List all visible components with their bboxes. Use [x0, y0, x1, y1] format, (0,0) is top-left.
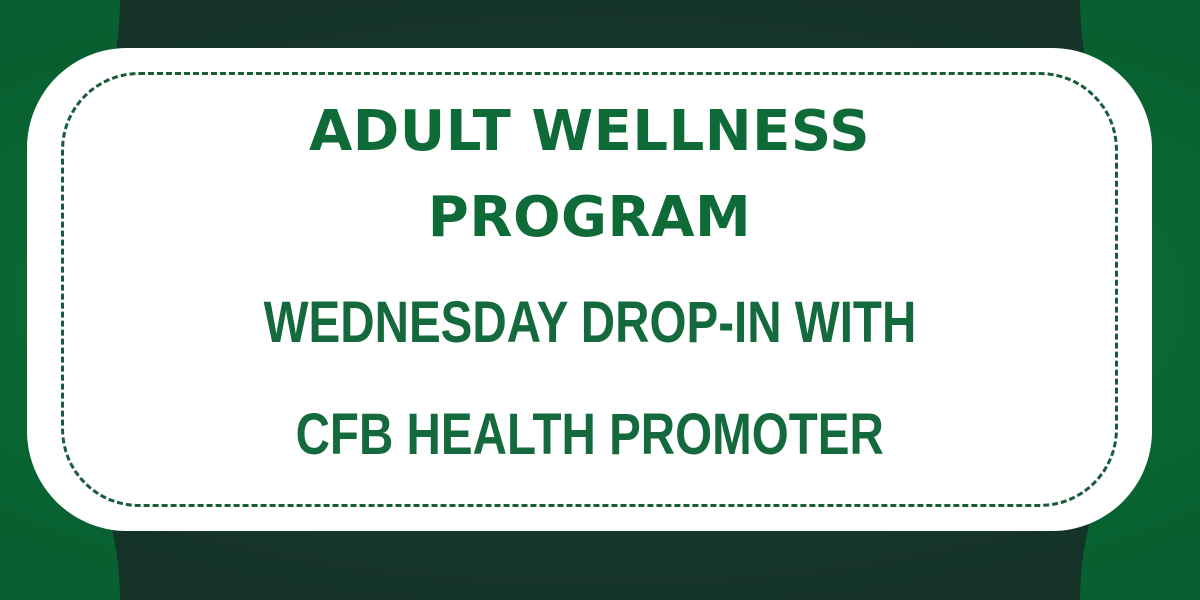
- headline-line-1: ADULT WELLNESS: [309, 89, 870, 175]
- poster: ADULT WELLNESS PROGRAM WEDNESDAY DROP-IN…: [0, 0, 1200, 600]
- headline-block: ADULT WELLNESS PROGRAM: [309, 89, 870, 261]
- content-card: ADULT WELLNESS PROGRAM WEDNESDAY DROP-IN…: [27, 48, 1152, 531]
- subtitle-line-1: WEDNESDAY DROP-IN WITH: [263, 267, 916, 379]
- card-content: ADULT WELLNESS PROGRAM WEDNESDAY DROP-IN…: [27, 48, 1152, 531]
- subtitle-line-2: CFB HEALTH PROMOTER: [295, 379, 883, 491]
- headline-line-2: PROGRAM: [309, 175, 870, 261]
